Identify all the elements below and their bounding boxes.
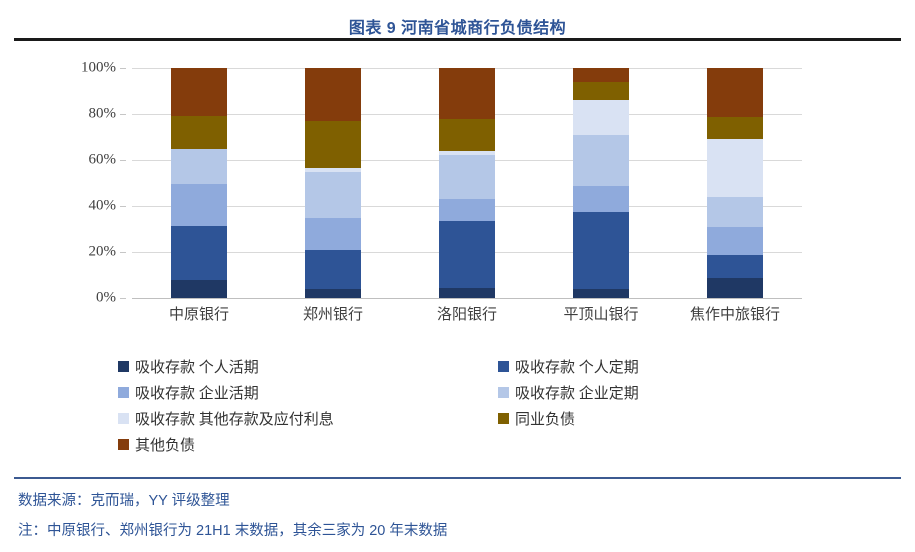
y-axis-tick-label: 0%	[96, 290, 116, 307]
y-axis: 0%20%40%60%80%100%	[60, 68, 126, 298]
bar-segment[interactable]	[171, 280, 227, 298]
chart-legend: 吸收存款 个人活期吸收存款 个人定期吸收存款 企业活期吸收存款 企业定期吸收存款…	[118, 356, 818, 460]
title-divider	[14, 38, 901, 41]
bar-segment[interactable]	[305, 218, 361, 250]
x-axis-tick-label: 中原银行	[169, 303, 229, 324]
footer-divider	[14, 477, 901, 479]
legend-label: 吸收存款 企业定期	[515, 382, 639, 403]
bar-segment[interactable]	[707, 197, 763, 227]
bar-segment[interactable]	[707, 255, 763, 278]
y-axis-tick-label: 60%	[89, 152, 117, 169]
bar-segment[interactable]	[707, 117, 763, 139]
x-axis-tick-label: 洛阳银行	[437, 303, 497, 324]
legend-item-other-deposits[interactable]: 吸收存款 其他存款及应付利息	[118, 408, 334, 429]
bar-segment[interactable]	[573, 212, 629, 289]
legend-swatch-icon	[498, 387, 509, 398]
y-axis-tick-label: 20%	[89, 244, 117, 261]
bar-segment[interactable]	[305, 172, 361, 218]
bar-segment[interactable]	[305, 121, 361, 168]
bar-segment[interactable]	[439, 68, 495, 119]
bar-segment[interactable]	[439, 221, 495, 288]
legend-swatch-icon	[118, 413, 129, 424]
page-title: 图表 9 河南省城商行负债结构	[0, 14, 915, 38]
bar-segment[interactable]	[707, 68, 763, 117]
legend-label: 吸收存款 企业活期	[135, 382, 259, 403]
bar-segment[interactable]	[707, 139, 763, 197]
bar-segment[interactable]	[171, 149, 227, 185]
y-axis-tick-mark	[120, 68, 126, 69]
bar-segment[interactable]	[305, 68, 361, 121]
legend-label: 吸收存款 个人定期	[515, 356, 639, 377]
footer: 数据来源：克而瑞，YY 评级整理 注：中原银行、郑州银行为 21H1 末数据，其…	[18, 486, 898, 546]
legend-item-other-liabilities[interactable]: 其他负债	[118, 434, 195, 455]
legend-label: 其他负债	[135, 434, 195, 455]
bar-4[interactable]	[573, 68, 629, 298]
bar-segment[interactable]	[573, 82, 629, 100]
legend-swatch-icon	[118, 361, 129, 372]
legend-label: 同业负债	[515, 408, 575, 429]
x-axis: 中原银行郑州银行洛阳银行平顶山银行焦作中旅银行	[132, 303, 802, 329]
y-axis-tick-label: 100%	[81, 60, 116, 77]
y-axis-tick-mark	[120, 252, 126, 253]
y-axis-tick-mark	[120, 298, 126, 299]
legend-label: 吸收存款 其他存款及应付利息	[135, 408, 334, 429]
legend-item-interbank[interactable]: 同业负债	[498, 408, 575, 429]
bar-segment[interactable]	[439, 288, 495, 298]
bar-segment[interactable]	[171, 184, 227, 225]
legend-label: 吸收存款 个人活期	[135, 356, 259, 377]
x-axis-tick-label: 平顶山银行	[563, 303, 638, 324]
legend-swatch-icon	[118, 387, 129, 398]
bar-segment[interactable]	[707, 227, 763, 256]
legend-row: 吸收存款 个人活期吸收存款 个人定期	[118, 356, 818, 382]
legend-row: 吸收存款 企业活期吸收存款 企业定期	[118, 382, 818, 408]
bar-1[interactable]	[171, 68, 227, 298]
bar-segment[interactable]	[573, 68, 629, 82]
x-axis-line	[132, 298, 802, 299]
plot-area	[132, 68, 802, 298]
note-line: 注：中原银行、郑州银行为 21H1 末数据，其余三家为 20 年末数据	[18, 516, 898, 546]
bar-segment[interactable]	[707, 278, 763, 298]
legend-item-corporate-demand[interactable]: 吸收存款 企业活期	[118, 382, 259, 403]
bar-2[interactable]	[305, 68, 361, 298]
bar-segment[interactable]	[439, 155, 495, 199]
y-axis-tick-label: 40%	[89, 198, 117, 215]
bar-segment[interactable]	[573, 186, 629, 211]
bar-segment[interactable]	[573, 100, 629, 135]
x-axis-tick-label: 焦作中旅银行	[690, 303, 780, 324]
legend-swatch-icon	[498, 413, 509, 424]
bar-5[interactable]	[707, 68, 763, 298]
legend-item-corporate-time[interactable]: 吸收存款 企业定期	[498, 382, 639, 403]
bar-segment[interactable]	[573, 135, 629, 187]
legend-item-personal-time[interactable]: 吸收存款 个人定期	[498, 356, 639, 377]
data-source-line: 数据来源：克而瑞，YY 评级整理	[18, 486, 898, 516]
bar-segment[interactable]	[439, 199, 495, 221]
legend-swatch-icon	[118, 439, 129, 450]
legend-item-personal-demand[interactable]: 吸收存款 个人活期	[118, 356, 259, 377]
bar-segment[interactable]	[171, 226, 227, 280]
y-axis-tick-mark	[120, 160, 126, 161]
bar-segment[interactable]	[439, 119, 495, 151]
legend-swatch-icon	[498, 361, 509, 372]
y-axis-tick-label: 80%	[89, 106, 117, 123]
legend-row: 吸收存款 其他存款及应付利息同业负债	[118, 408, 818, 434]
y-axis-tick-mark	[120, 206, 126, 207]
bar-3[interactable]	[439, 68, 495, 298]
x-axis-tick-label: 郑州银行	[303, 303, 363, 324]
chart-page: 图表 9 河南省城商行负债结构 0%20%40%60%80%100% 中原银行郑…	[0, 0, 915, 552]
bar-segment[interactable]	[573, 289, 629, 298]
bar-segment[interactable]	[171, 116, 227, 148]
bar-segment[interactable]	[305, 289, 361, 298]
bar-segment[interactable]	[305, 250, 361, 289]
legend-row: 其他负债	[118, 434, 818, 460]
bar-segment[interactable]	[171, 68, 227, 116]
y-axis-tick-mark	[120, 114, 126, 115]
